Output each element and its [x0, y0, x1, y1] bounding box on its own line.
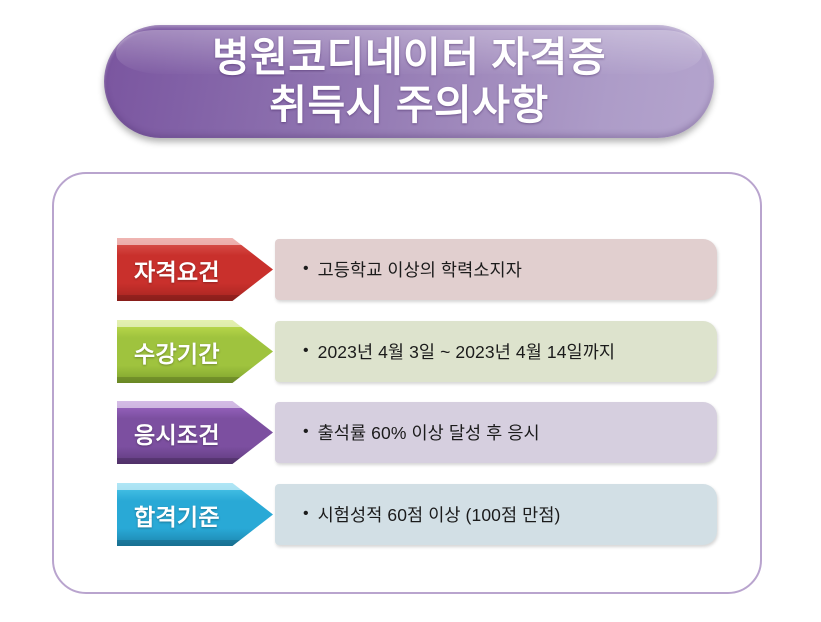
bullet-icon: • [303, 424, 309, 440]
requirement-row: 자격요건 • 고등학교 이상의 학력소지자 [117, 238, 717, 301]
page-title: 병원코디네이터 자격증 취득시 주의사항 [212, 34, 606, 129]
bullet-icon: • [303, 261, 309, 277]
requirement-row: 수강기간 • 2023년 4월 3일 ~ 2023년 4월 14일까지 [117, 320, 717, 383]
row-label: 수강기간 [117, 335, 220, 369]
row-label: 응시조건 [117, 416, 220, 450]
row-label: 합격기준 [117, 498, 220, 532]
chevron-bottom-bevel [117, 458, 273, 464]
requirement-row: 응시조건 • 출석률 60% 이상 달성 후 응시 [117, 401, 717, 464]
chevron-top-bevel [117, 401, 273, 408]
slide-title-banner: 병원코디네이터 자격증 취득시 주의사항 [104, 25, 714, 138]
row-content-text: 고등학교 이상의 학력소지자 [318, 257, 522, 282]
chevron-top-bevel [117, 320, 273, 327]
slide-canvas: 병원코디네이터 자격증 취득시 주의사항 자격요건 • 고등학교 이상의 학력소… [0, 0, 821, 622]
row-content-box-2: • 출석률 60% 이상 달성 후 응시 [275, 402, 717, 463]
requirement-row: 합격기준 • 시험성적 60점 이상 (100점 만점) [117, 483, 717, 546]
chevron-top-bevel [117, 483, 273, 490]
chevron-top-bevel [117, 238, 273, 245]
row-content-box-3: • 시험성적 60점 이상 (100점 만점) [275, 484, 717, 545]
bullet-icon: • [303, 506, 309, 522]
row-tag-chevron-2[interactable]: 응시조건 [117, 401, 273, 464]
bullet-icon: • [303, 343, 309, 359]
row-tag-chevron-3[interactable]: 합격기준 [117, 483, 273, 546]
row-tag-chevron-1[interactable]: 수강기간 [117, 320, 273, 383]
row-label: 자격요건 [117, 253, 220, 287]
row-content-box-0: • 고등학교 이상의 학력소지자 [275, 239, 717, 300]
chevron-bottom-bevel [117, 540, 273, 546]
row-tag-chevron-0[interactable]: 자격요건 [117, 238, 273, 301]
chevron-bottom-bevel [117, 377, 273, 383]
chevron-bottom-bevel [117, 295, 273, 301]
row-content-text: 시험성적 60점 이상 (100점 만점) [318, 502, 561, 527]
row-content-text: 출석률 60% 이상 달성 후 응시 [318, 420, 540, 445]
row-content-text: 2023년 4월 3일 ~ 2023년 4월 14일까지 [318, 339, 616, 364]
row-content-box-1: • 2023년 4월 3일 ~ 2023년 4월 14일까지 [275, 321, 717, 382]
